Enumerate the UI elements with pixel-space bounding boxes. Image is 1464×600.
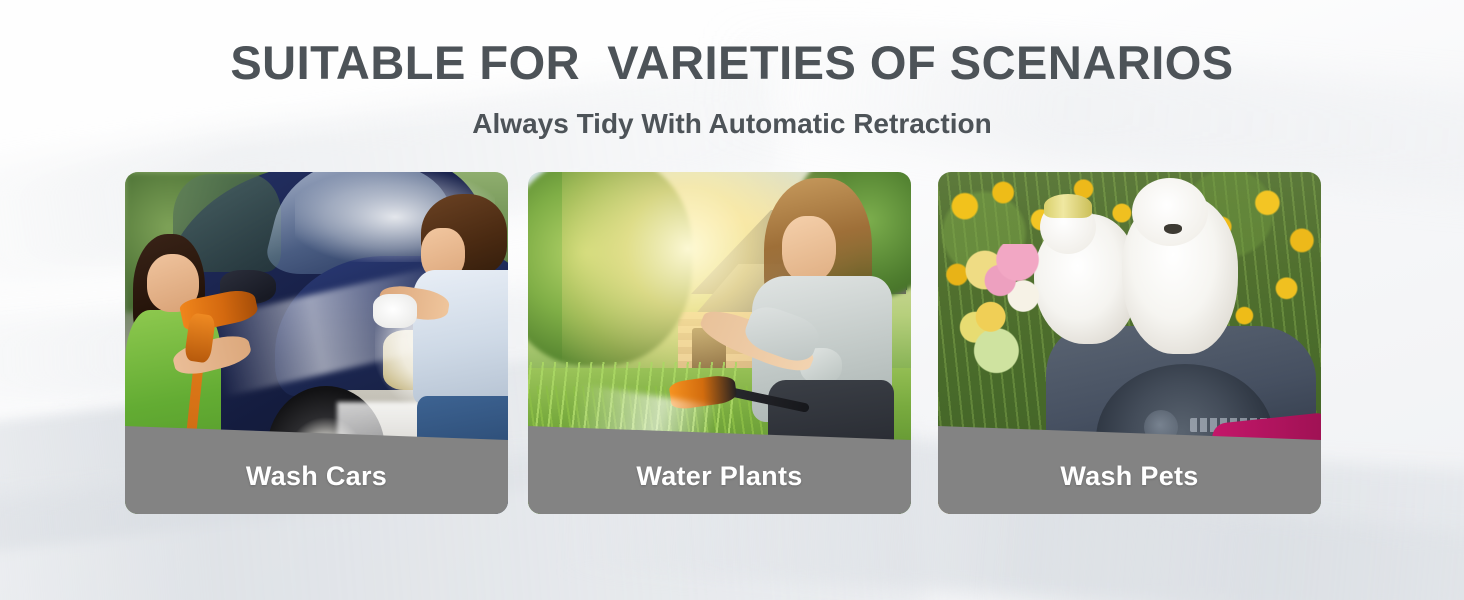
scenario-card-water-plants[interactable]: Water Plants — [528, 172, 911, 514]
scenario-card-label: Wash Pets — [1060, 461, 1198, 514]
scenario-card-label: Water Plants — [636, 461, 802, 514]
page-title: SUITABLE FOR VARIETIES OF SCENARIOS — [0, 36, 1464, 90]
flower-crown-shape — [1044, 194, 1092, 218]
scenario-card-label: Wash Cars — [246, 461, 387, 514]
banner-header: SUITABLE FOR VARIETIES OF SCENARIOS Alwa… — [0, 0, 1464, 141]
flower-bouquet-shape — [958, 244, 1054, 374]
sponge-shape — [373, 294, 417, 328]
scenario-card-wash-pets[interactable]: Wash Pets — [938, 172, 1321, 514]
silkie-chicken-head-shape — [1132, 178, 1208, 246]
scenario-card-wash-cars[interactable]: Wash Cars — [125, 172, 508, 514]
silkie-chicken-beak-shape — [1164, 224, 1182, 234]
scenario-card-list: Wash Cars — [125, 172, 1316, 514]
page-subtitle: Always Tidy With Automatic Retraction — [0, 107, 1464, 141]
woman-face-shape — [782, 216, 836, 282]
